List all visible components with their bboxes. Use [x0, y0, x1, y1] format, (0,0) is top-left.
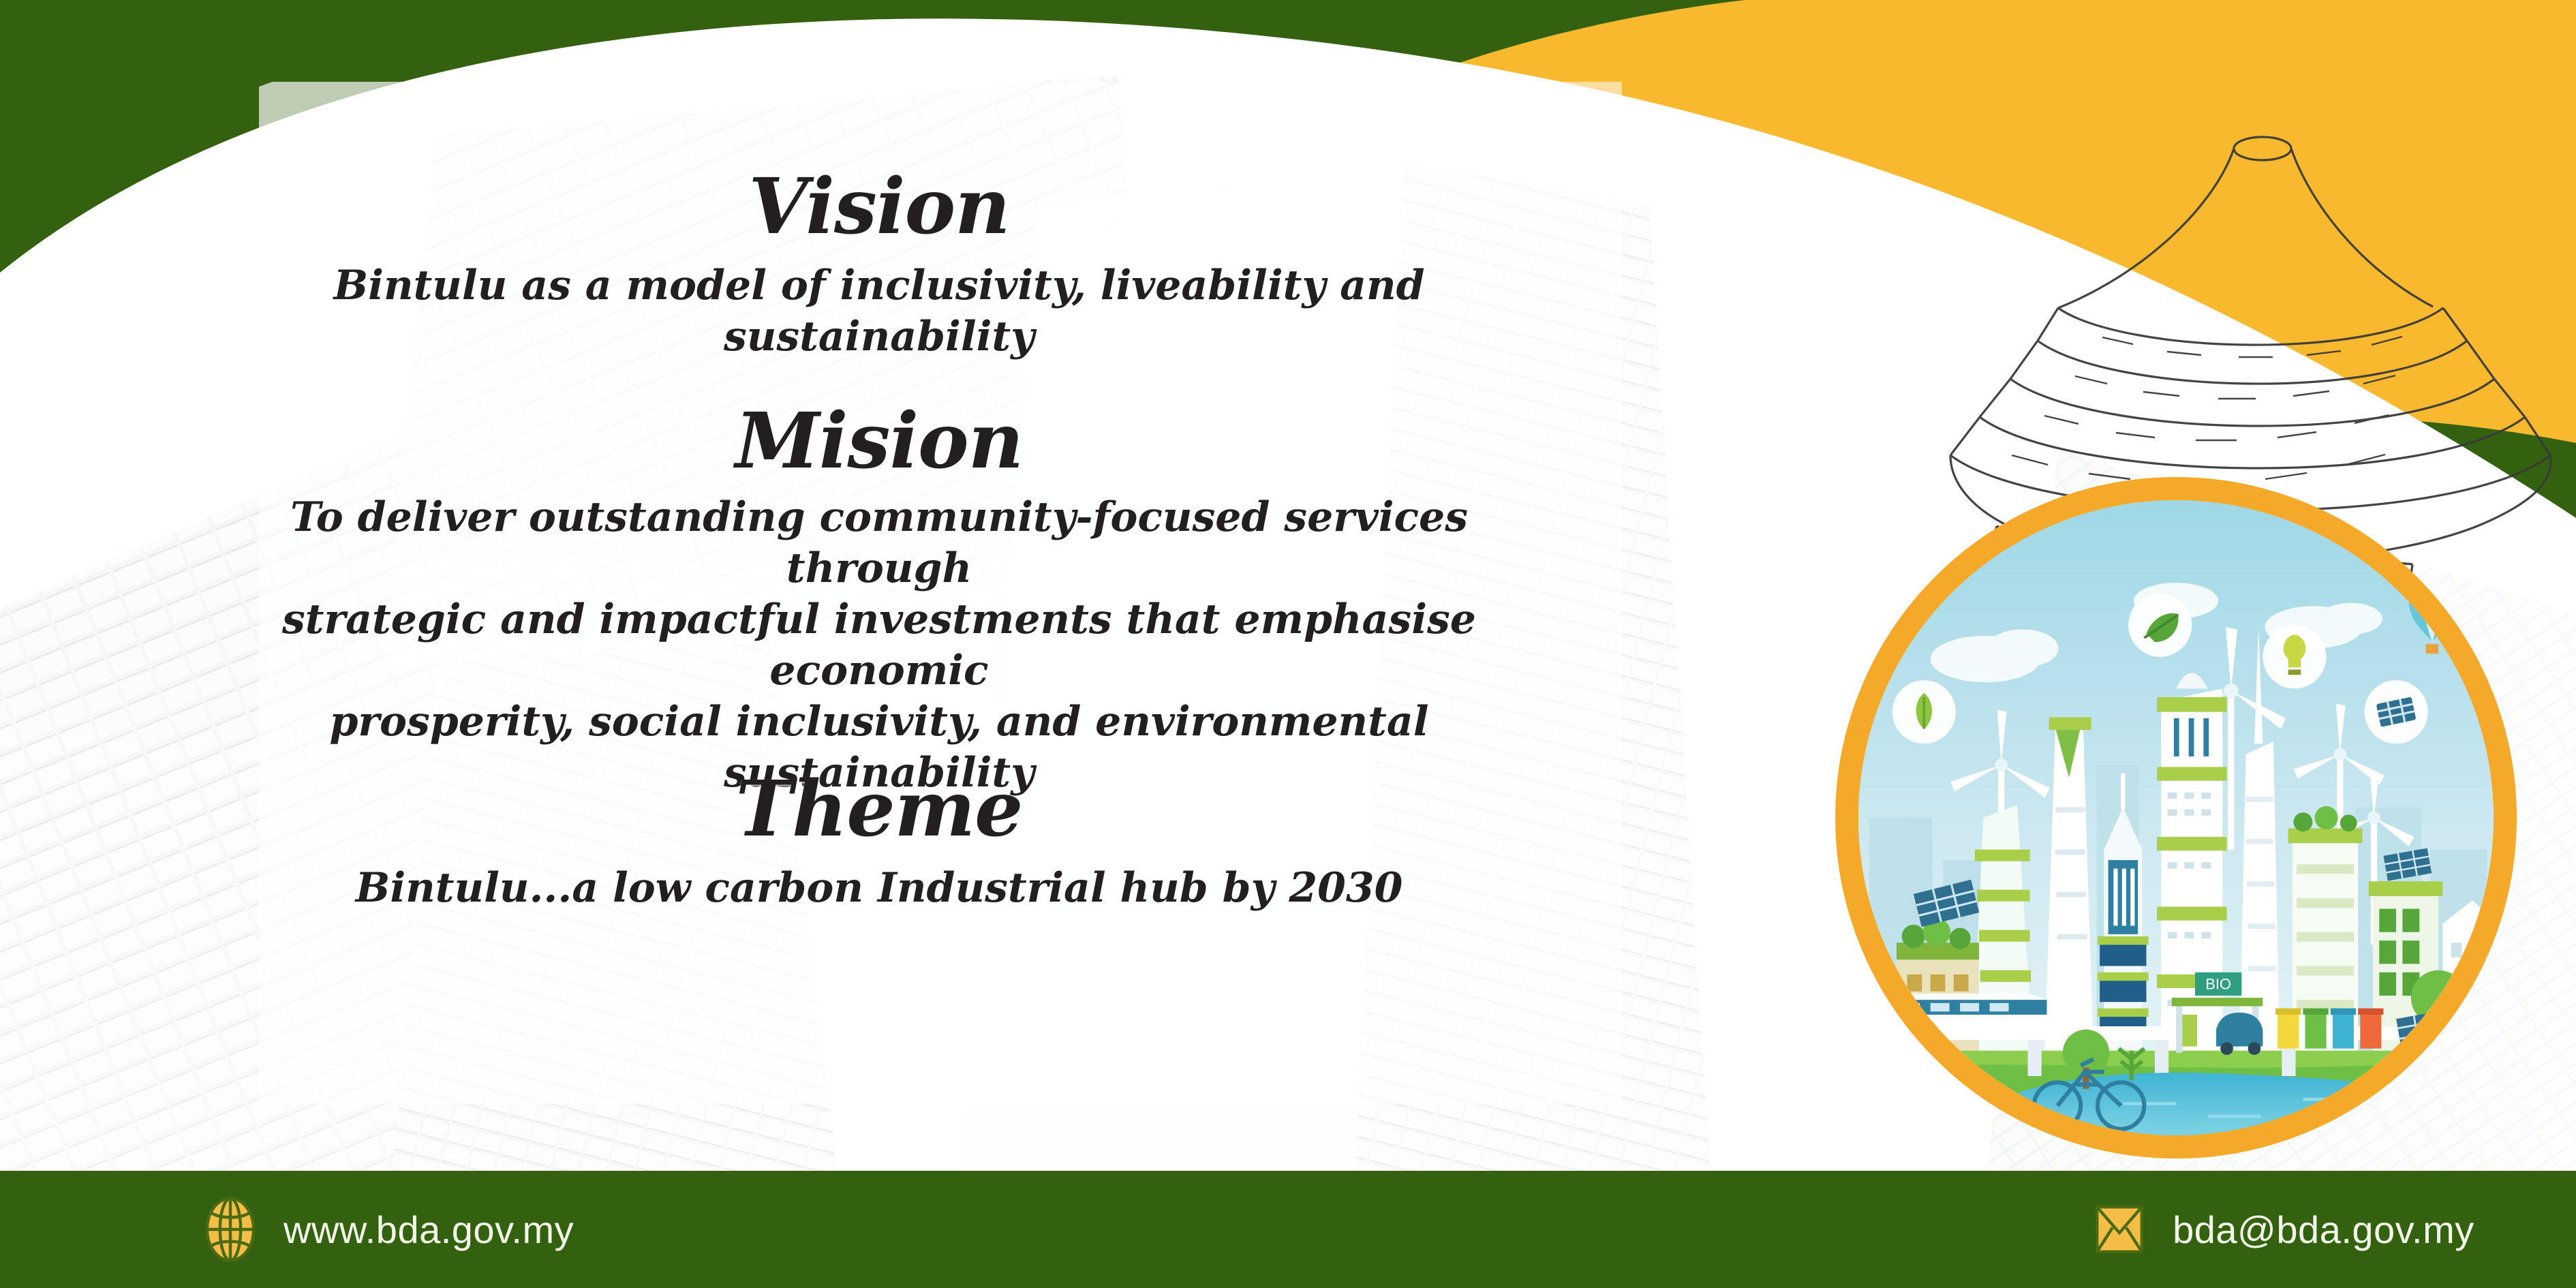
- theme-section: Theme Bintulu...a low carbon Industrial …: [204, 771, 1554, 914]
- theme-statement: Bintulu...a low carbon Industrial hub by…: [204, 863, 1554, 914]
- mission-section: Mision To deliver outstanding community-…: [204, 403, 1554, 799]
- content-layer: Vision Bintulu as a model of inclusivity…: [0, 0, 2576, 1288]
- footer-bar: www.bda.gov.my bda@bda.gov.my: [0, 1171, 2576, 1288]
- vision-statement: Bintulu as a model of inclusivity, livea…: [204, 260, 1554, 363]
- vision-title: Vision: [204, 169, 1554, 245]
- website-label: www.bda.gov.my: [283, 1208, 574, 1252]
- envelope-icon: [2094, 1197, 2145, 1262]
- email-contact[interactable]: bda@bda.gov.my: [2094, 1197, 2474, 1262]
- website-contact[interactable]: www.bda.gov.my: [204, 1197, 574, 1262]
- theme-title: Theme: [204, 771, 1554, 848]
- banner: BIO: [0, 0, 2576, 1288]
- mission-line-1: To deliver outstanding community-focused…: [204, 492, 1554, 594]
- email-label: bda@bda.gov.my: [2173, 1208, 2474, 1252]
- globe-icon: [204, 1197, 256, 1262]
- mission-line-2: strategic and impactful investments that…: [204, 594, 1554, 696]
- mission-statement: To deliver outstanding community-focused…: [204, 492, 1554, 799]
- vision-section: Vision Bintulu as a model of inclusivity…: [204, 169, 1554, 363]
- mission-title: Mision: [204, 403, 1554, 480]
